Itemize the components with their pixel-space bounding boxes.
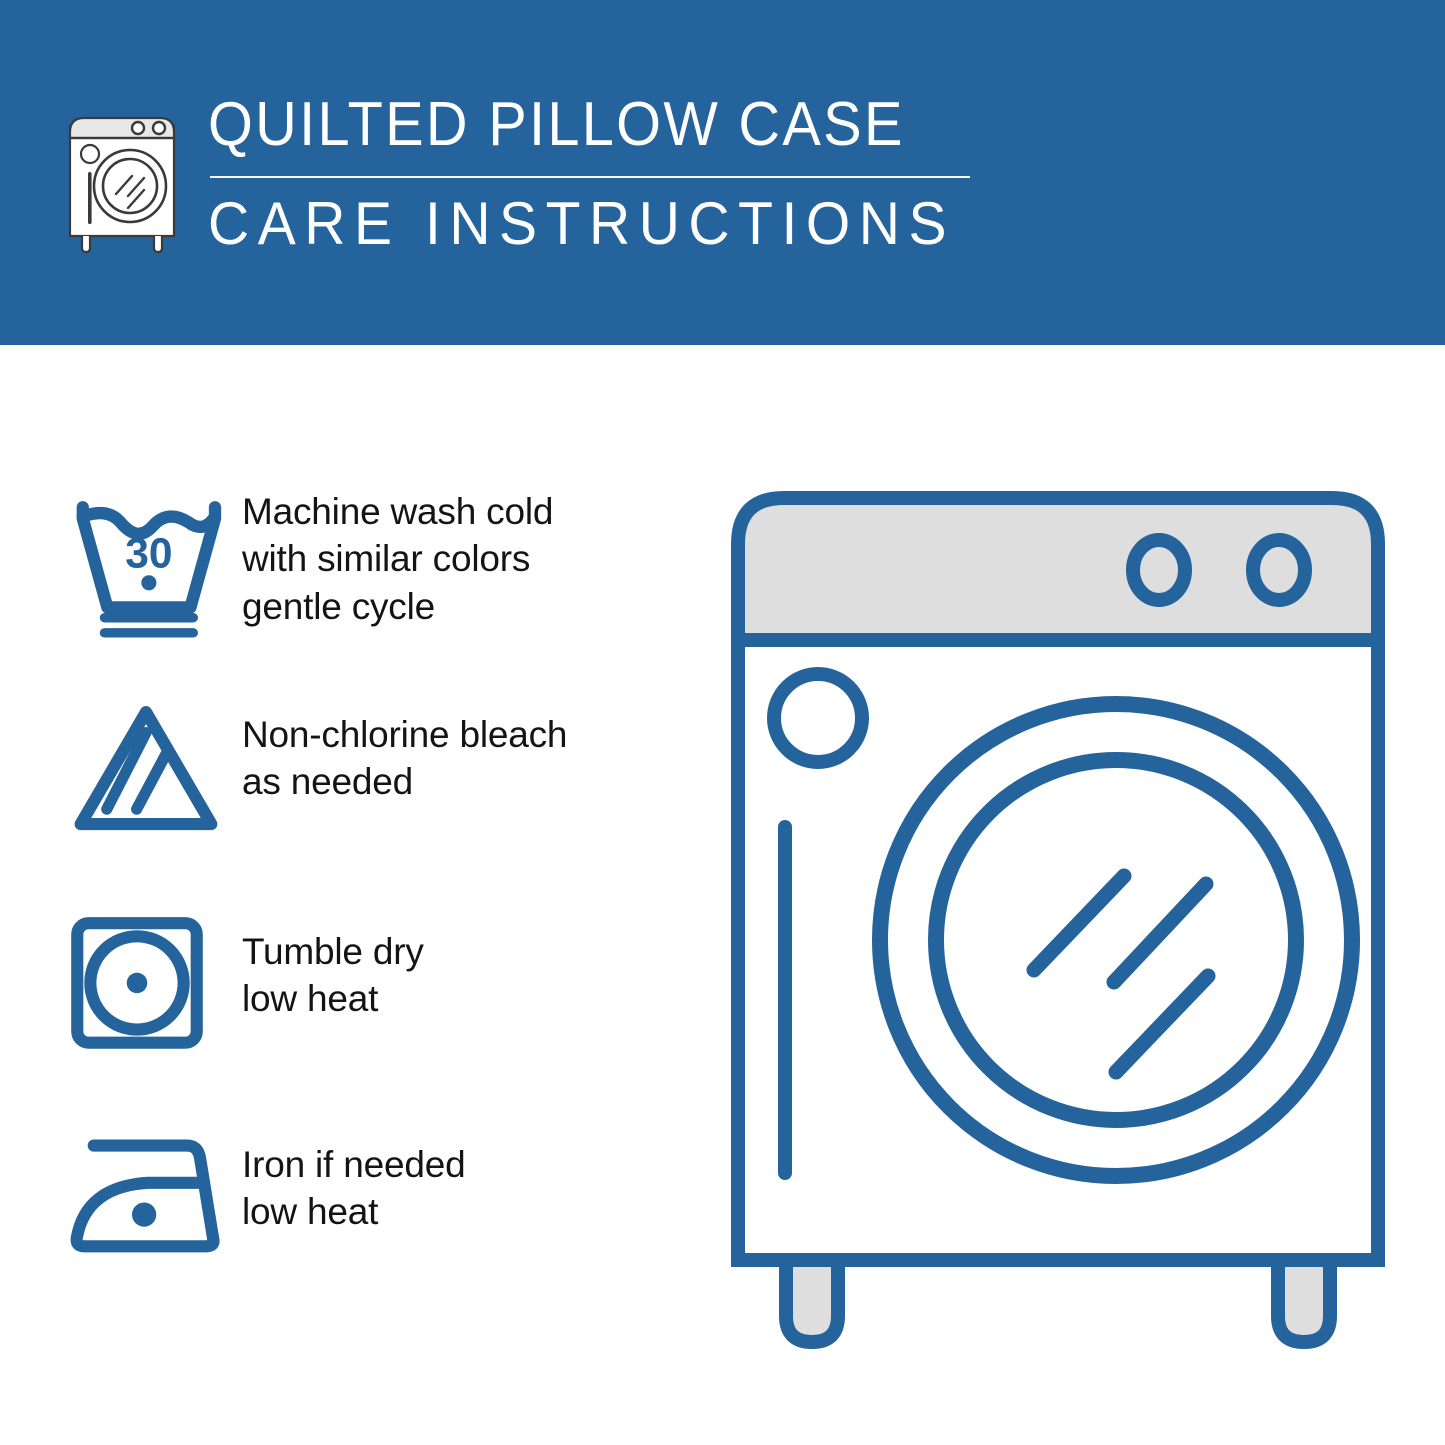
- washing-machine-icon: [62, 96, 186, 256]
- front-load-washing-machine-illustration: [716, 470, 1416, 1370]
- leg-left: [786, 1260, 838, 1342]
- iron-low-heat-icon: [62, 1119, 242, 1265]
- care-instruction-list: 30 Machine wash cold with similar colors…: [62, 480, 702, 1332]
- title-divider: [210, 176, 970, 178]
- header-titles: QUILTED PILLOW CASE CARE INSTRUCTIONS: [208, 92, 994, 254]
- care-item-tumble-dry: Tumble dry low heat: [62, 906, 702, 1119]
- non-chlorine-bleach-triangle-icon: [62, 693, 242, 839]
- page-header: QUILTED PILLOW CASE CARE INSTRUCTIONS: [0, 0, 1445, 345]
- care-item-text: Iron if needed low heat: [242, 1119, 465, 1236]
- detergent-indicator-circle: [774, 674, 862, 762]
- care-text-line: gentle cycle: [242, 583, 553, 630]
- wash-dot: [141, 575, 156, 590]
- header-content: QUILTED PILLOW CASE CARE INSTRUCTIONS: [62, 92, 994, 256]
- tumble-dry-dot: [127, 973, 148, 994]
- page-title: QUILTED PILLOW CASE: [208, 94, 939, 156]
- page-subtitle: CARE INSTRUCTIONS: [208, 194, 955, 254]
- care-text-line: with similar colors: [242, 535, 553, 582]
- door-handle-bar: [778, 820, 792, 1180]
- care-text-line: Iron if needed: [242, 1141, 465, 1188]
- care-item-text: Non-chlorine bleach as needed: [242, 693, 567, 806]
- knob-left: [1133, 540, 1185, 600]
- tumble-dry-low-heat-icon: [62, 906, 242, 1052]
- care-text-line: low heat: [242, 1188, 465, 1235]
- care-text-line: low heat: [242, 975, 424, 1022]
- care-text-line: Tumble dry: [242, 928, 424, 975]
- leg-right: [1278, 1260, 1330, 1342]
- wash-temp-label: 30: [125, 531, 172, 578]
- iron-dot: [132, 1202, 156, 1226]
- care-text-line: as needed: [242, 758, 567, 805]
- wash-tub-30-gentle-icon: 30: [62, 480, 242, 638]
- care-item-machine-wash: 30 Machine wash cold with similar colors…: [62, 480, 702, 693]
- care-item-bleach: Non-chlorine bleach as needed: [62, 693, 702, 906]
- care-instructions-page: QUILTED PILLOW CASE CARE INSTRUCTIONS 30: [0, 0, 1445, 1445]
- knob-right: [1253, 540, 1305, 600]
- care-text-line: Non-chlorine bleach: [242, 711, 567, 758]
- care-item-text: Machine wash cold with similar colors ge…: [242, 480, 553, 630]
- care-item-text: Tumble dry low heat: [242, 906, 424, 1023]
- care-text-line: Machine wash cold: [242, 488, 553, 535]
- care-item-iron: Iron if needed low heat: [62, 1119, 702, 1332]
